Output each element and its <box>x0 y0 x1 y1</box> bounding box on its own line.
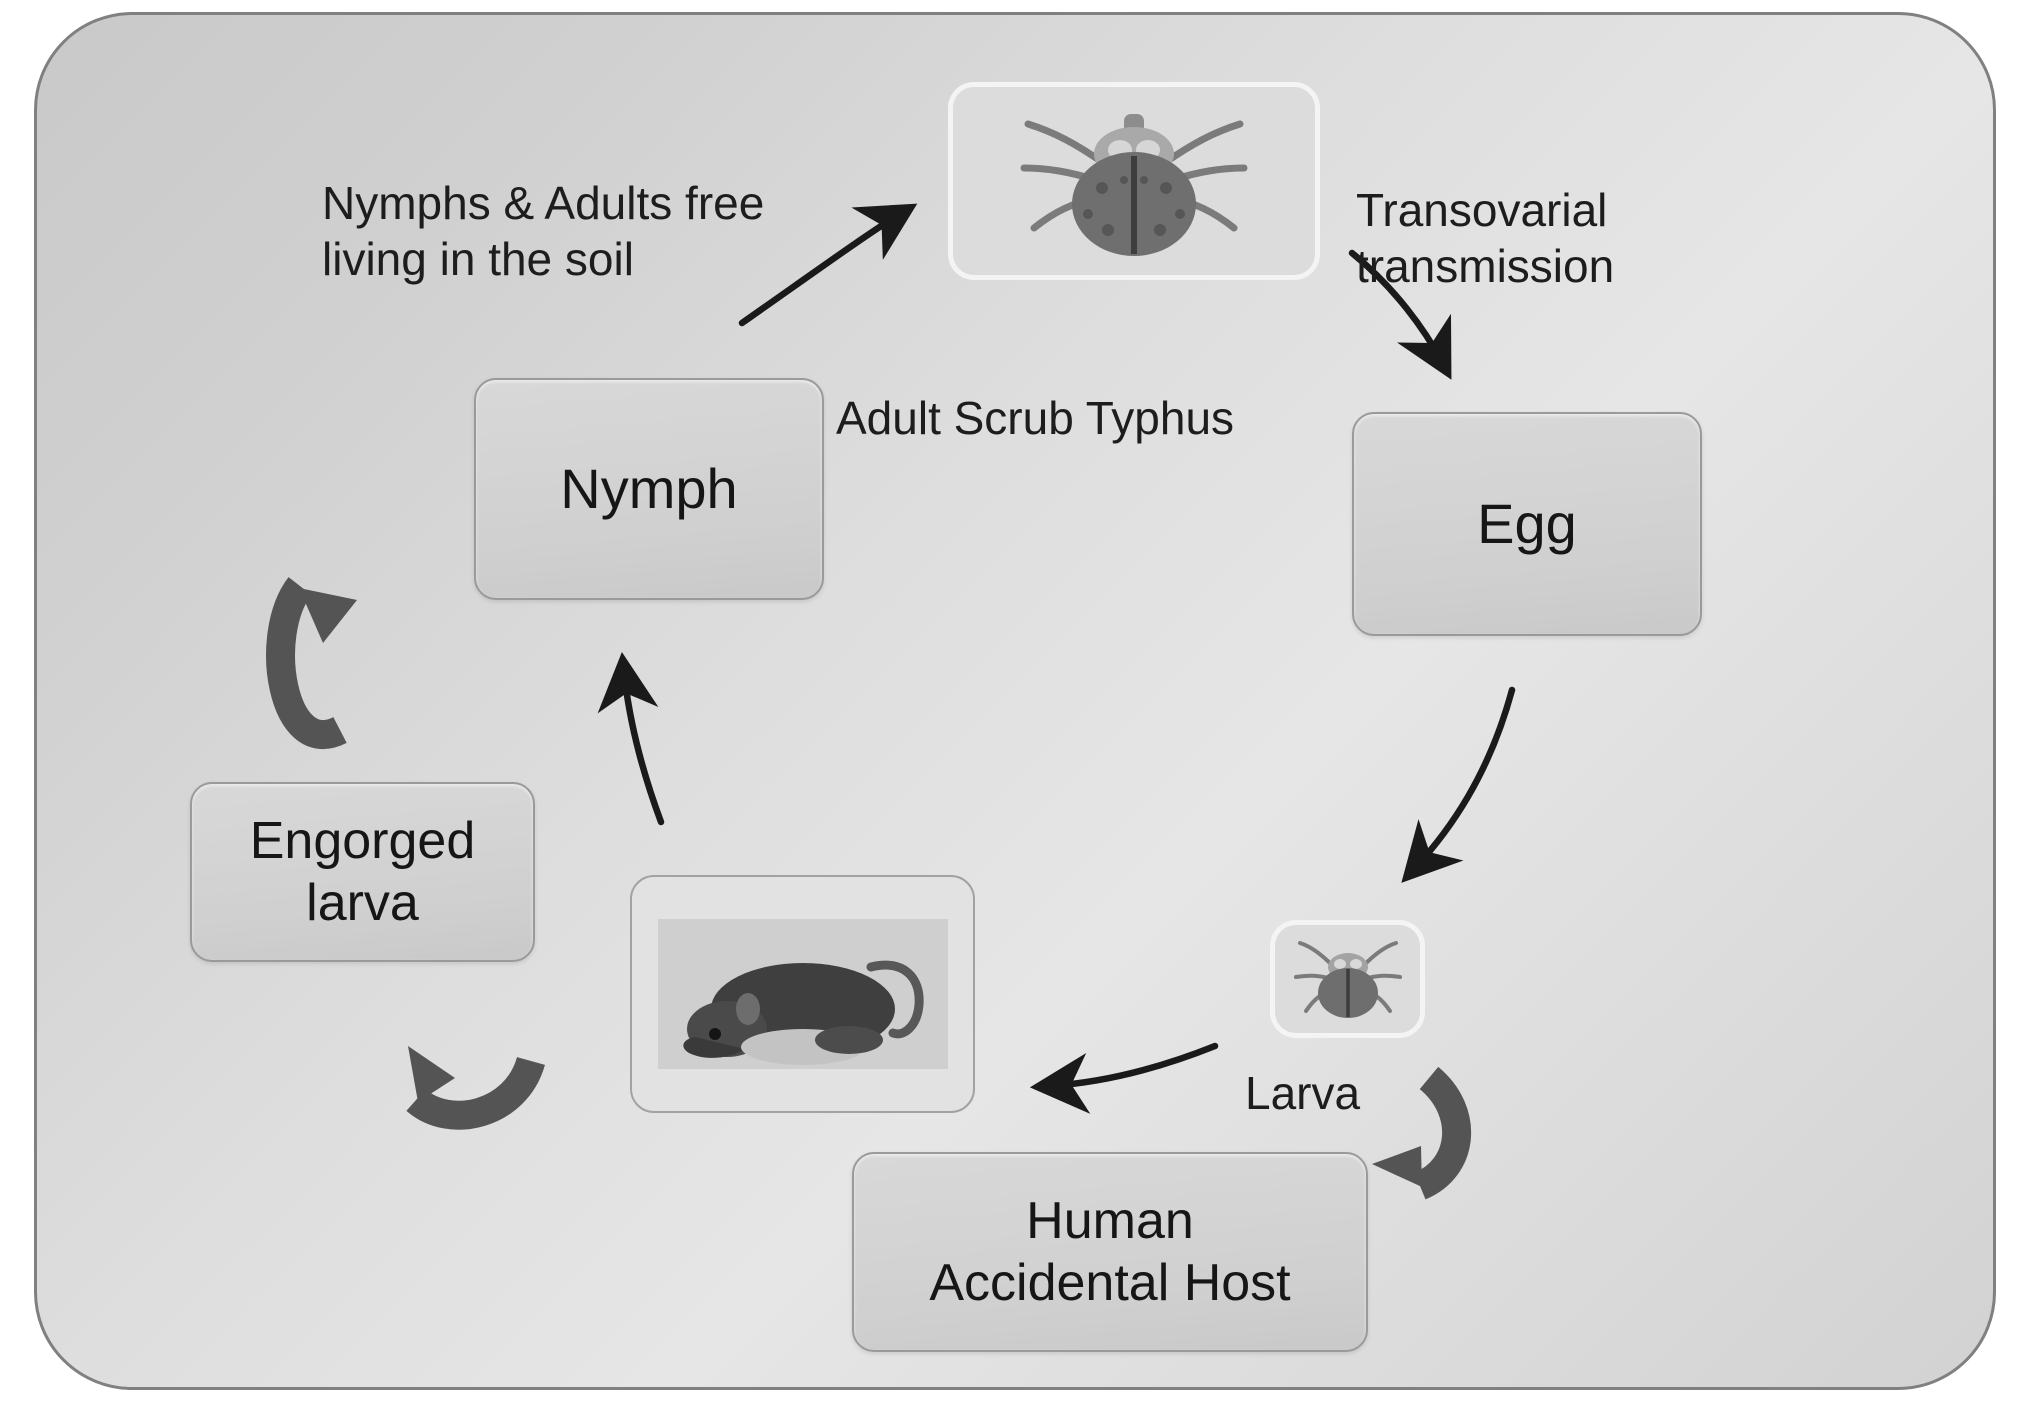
node-human-host[interactable]: Human Accidental Host <box>852 1152 1368 1352</box>
diagram-canvas: Nymph Egg Engorged larva Human Accidenta… <box>0 0 2031 1402</box>
node-egg[interactable]: Egg <box>1352 412 1702 636</box>
rodent-image-box <box>630 875 975 1113</box>
adult-mite-image-box <box>948 82 1320 280</box>
larva-mite-icon <box>1288 933 1408 1025</box>
label-larva: Larva <box>1245 1065 1465 1121</box>
label-adult-scrub-typhus: Adult Scrub Typhus <box>836 390 1356 446</box>
label-nymphs-adults-soil: Nymphs & Adults free living in the soil <box>322 175 792 287</box>
node-human-host-label: Human Accidental Host <box>929 1190 1290 1315</box>
node-nymph-label: Nymph <box>560 455 737 522</box>
node-egg-label: Egg <box>1477 490 1577 557</box>
larva-mite-image-box <box>1270 920 1425 1038</box>
node-engorged-larva-label: Engorged larva <box>250 810 476 935</box>
label-transovarial-transmission: Transovarial transmission <box>1356 182 1776 294</box>
adult-mite-icon <box>984 96 1284 266</box>
rodent-icon <box>653 897 953 1092</box>
node-engorged-larva[interactable]: Engorged larva <box>190 782 535 962</box>
node-nymph[interactable]: Nymph <box>474 378 824 600</box>
